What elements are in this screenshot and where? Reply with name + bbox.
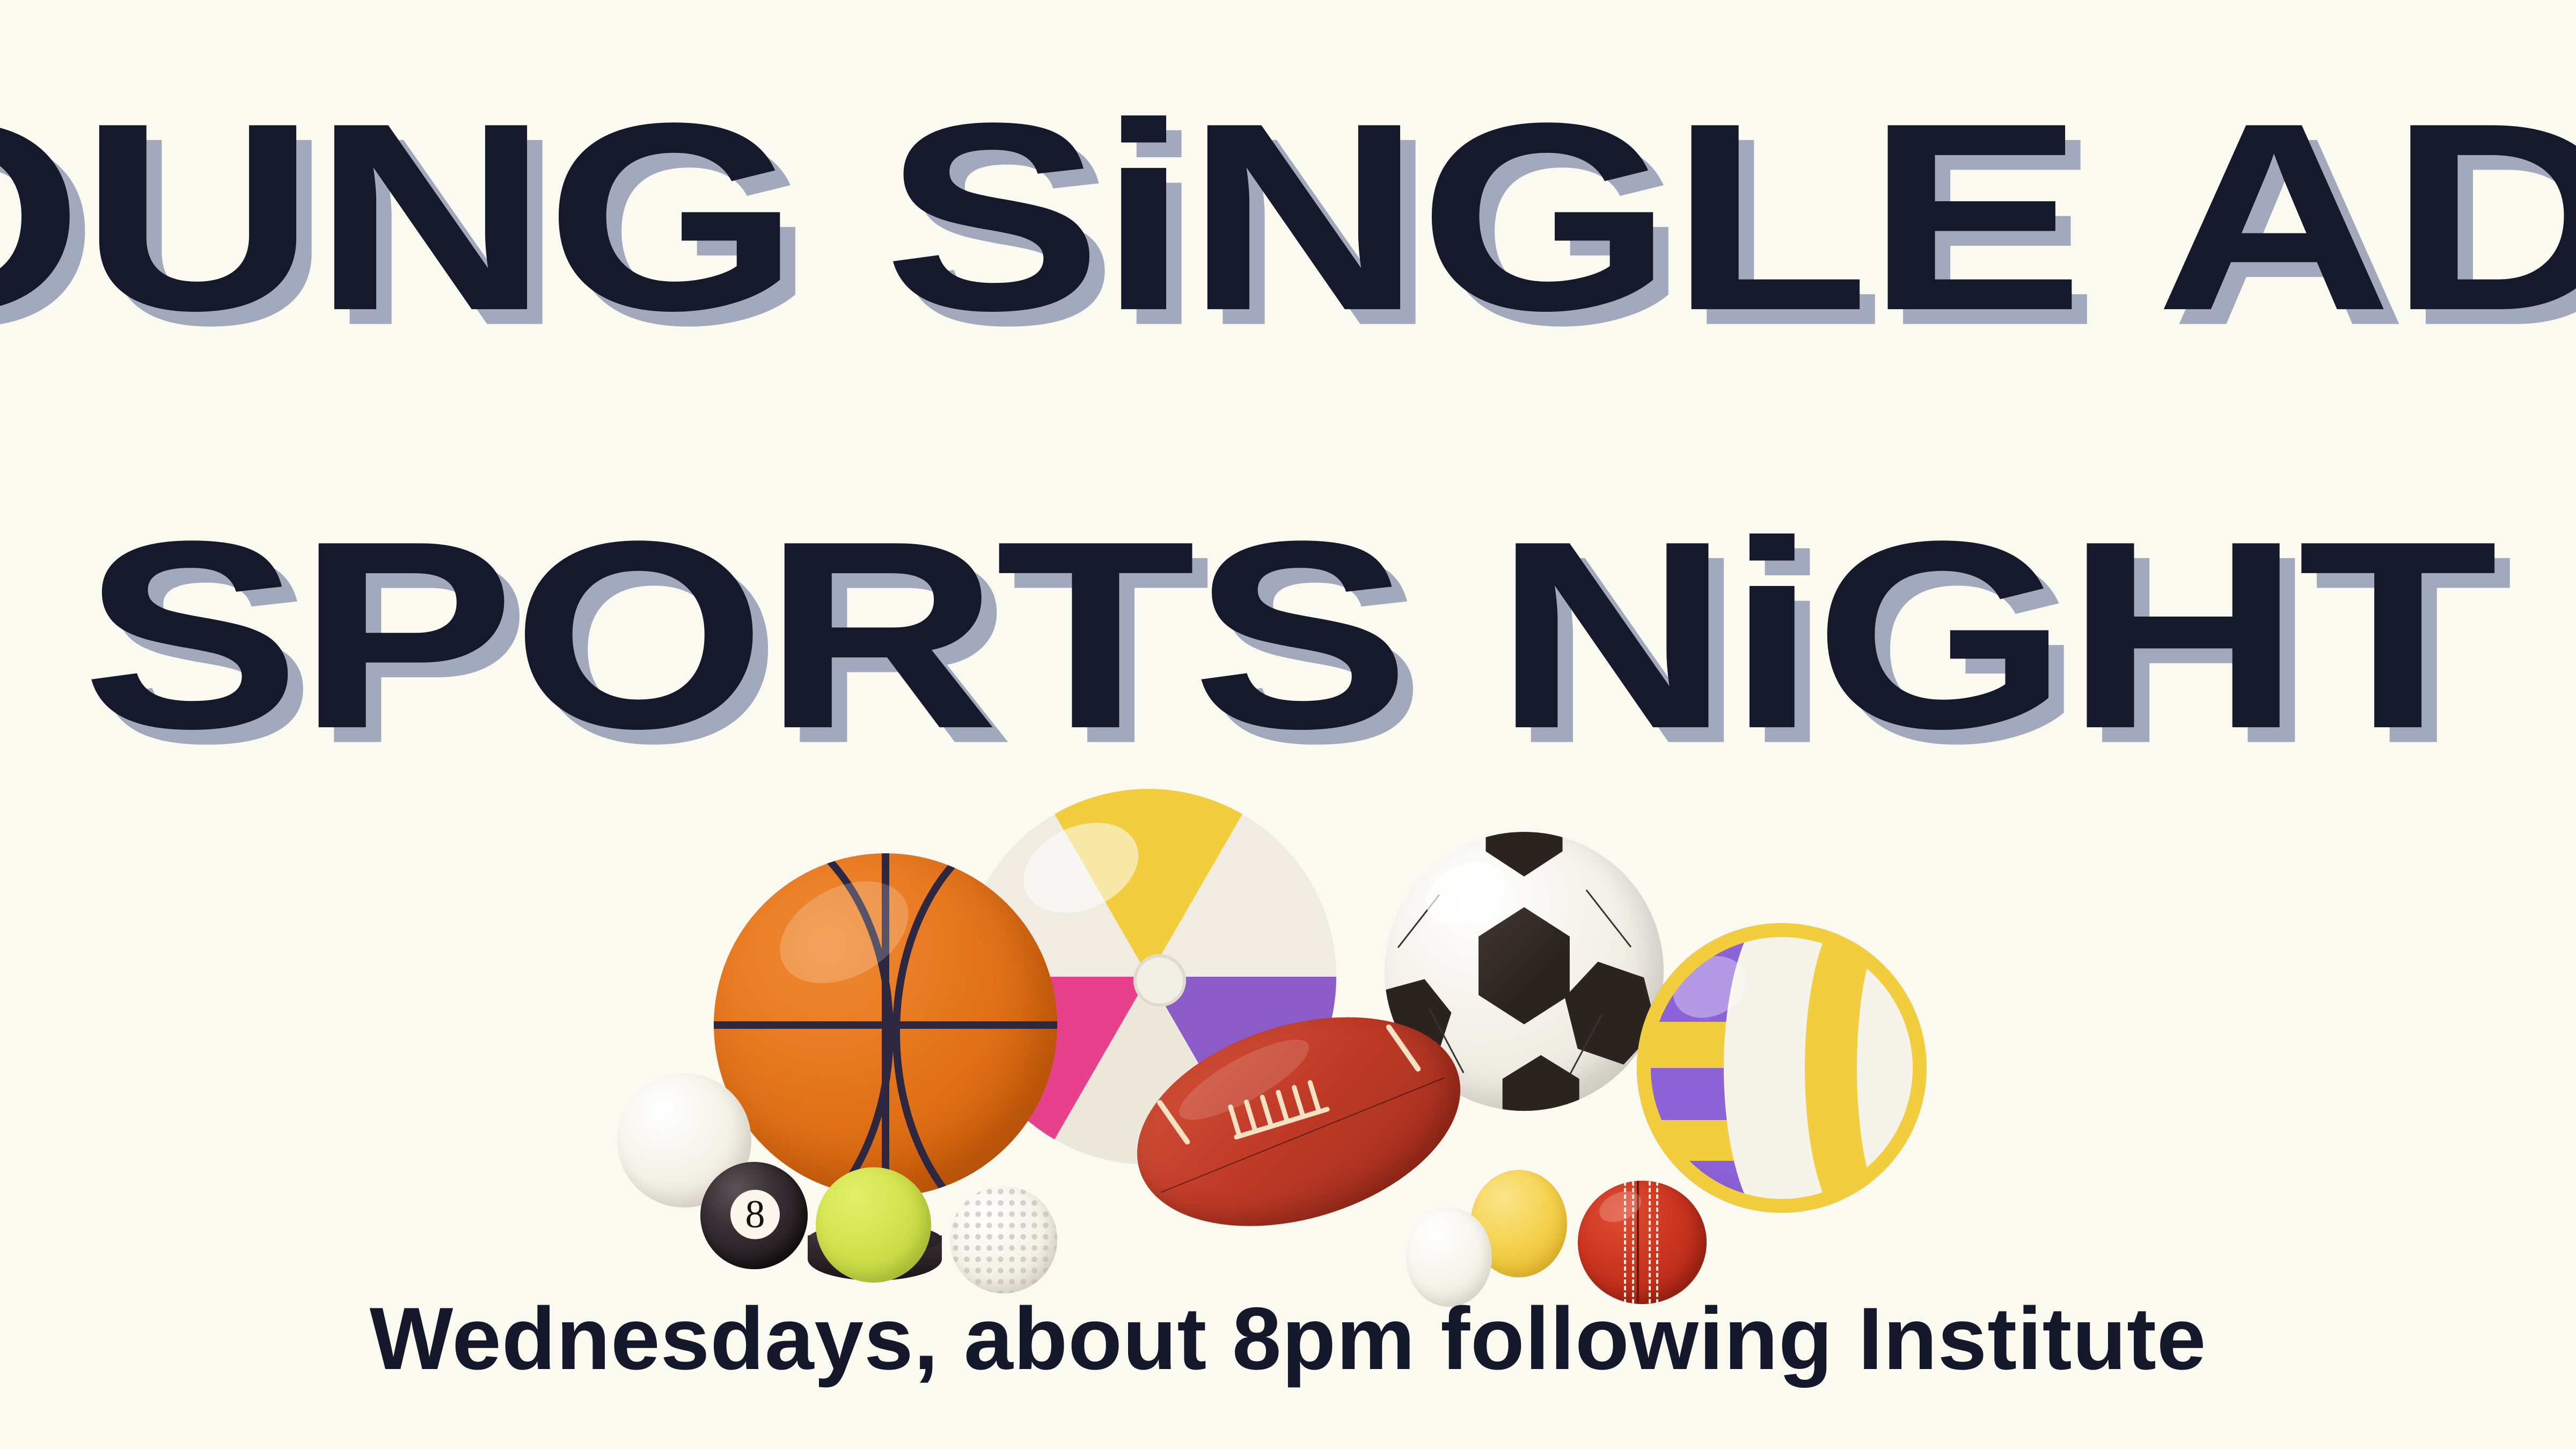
poster-title: YOUNG SiNGLE ADULT SPORTS NiGHT [0,80,2576,756]
title-line-1: YOUNG SiNGLE ADULT [0,80,2576,353]
eight-ball-number: 8 [730,1190,780,1239]
tennis-ball-icon [816,1167,931,1283]
eight-ball-icon: 8 [700,1162,808,1269]
cricket-ball-icon [1578,1181,1707,1304]
beach-ball-nub [1133,954,1186,1007]
basketball-icon [714,853,1057,1197]
title-line-2: SPORTS NiGHT [0,499,2576,771]
volleyball-icon [1637,923,1927,1213]
event-schedule-subtitle: Wednesdays, about 8pm following Institut… [0,1288,2576,1389]
poster-canvas: YOUNG SiNGLE ADULT SPORTS NiGHT [0,0,2576,1449]
sports-balls-illustration: 8 [617,762,1991,1272]
golf-ball-icon [950,1186,1057,1293]
